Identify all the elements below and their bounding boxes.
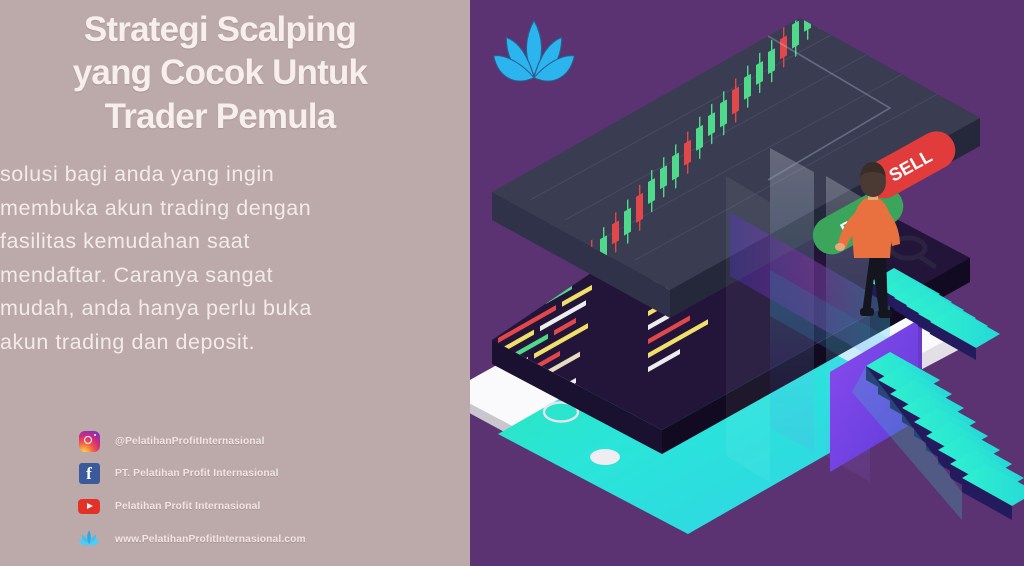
social-links: @PelatihanProfitInternasional f PT. Pela… bbox=[78, 425, 438, 555]
right-illustration-panel: BUY SELL bbox=[470, 0, 1024, 566]
body-paragraph: solusi bagi anda yang ingin membuka akun… bbox=[0, 158, 410, 359]
social-label-instagram: @PelatihanProfitInternasional bbox=[115, 436, 265, 447]
trading-illustration: BUY SELL bbox=[470, 0, 1024, 566]
poster-root: Strategi Scalping yang Cocok Untuk Trade… bbox=[0, 0, 1024, 566]
social-item-instagram[interactable]: @PelatihanProfitInternasional bbox=[78, 425, 438, 458]
social-label-youtube: Pelatihan Profit Internasional bbox=[115, 501, 260, 512]
left-text-panel: Strategi Scalping yang Cocok Untuk Trade… bbox=[0, 0, 470, 566]
social-item-youtube[interactable]: Pelatihan Profit Internasional bbox=[78, 490, 438, 523]
body-line-1: solusi bagi anda yang ingin bbox=[0, 158, 410, 192]
social-item-website[interactable]: www.PelatihanProfitInternasional.com bbox=[78, 523, 438, 556]
body-line-4: mendaftar. Caranya sangat bbox=[0, 259, 410, 293]
headline-line-2: yang Cocok Untuk bbox=[0, 51, 440, 94]
body-line-6: akun trading dan deposit. bbox=[0, 326, 410, 360]
instagram-icon bbox=[78, 430, 100, 452]
headline-line-1: Strategi Scalping bbox=[0, 8, 440, 51]
page-title: Strategi Scalping yang Cocok Untuk Trade… bbox=[0, 8, 440, 138]
social-label-facebook: PT. Pelatihan Profit Internasional bbox=[115, 468, 279, 479]
social-label-website: www.PelatihanProfitInternasional.com bbox=[115, 534, 306, 545]
body-line-3: fasilitas kemudahan saat bbox=[0, 225, 410, 259]
body-line-2: membuka akun trading dengan bbox=[0, 192, 410, 226]
headline-line-3: Trader Pemula bbox=[0, 95, 440, 138]
social-item-facebook[interactable]: f PT. Pelatihan Profit Internasional bbox=[78, 458, 438, 491]
facebook-icon: f bbox=[78, 463, 100, 485]
youtube-icon bbox=[78, 495, 100, 517]
lotus-icon bbox=[78, 528, 100, 550]
body-line-5: mudah, anda hanya perlu buka bbox=[0, 292, 410, 326]
